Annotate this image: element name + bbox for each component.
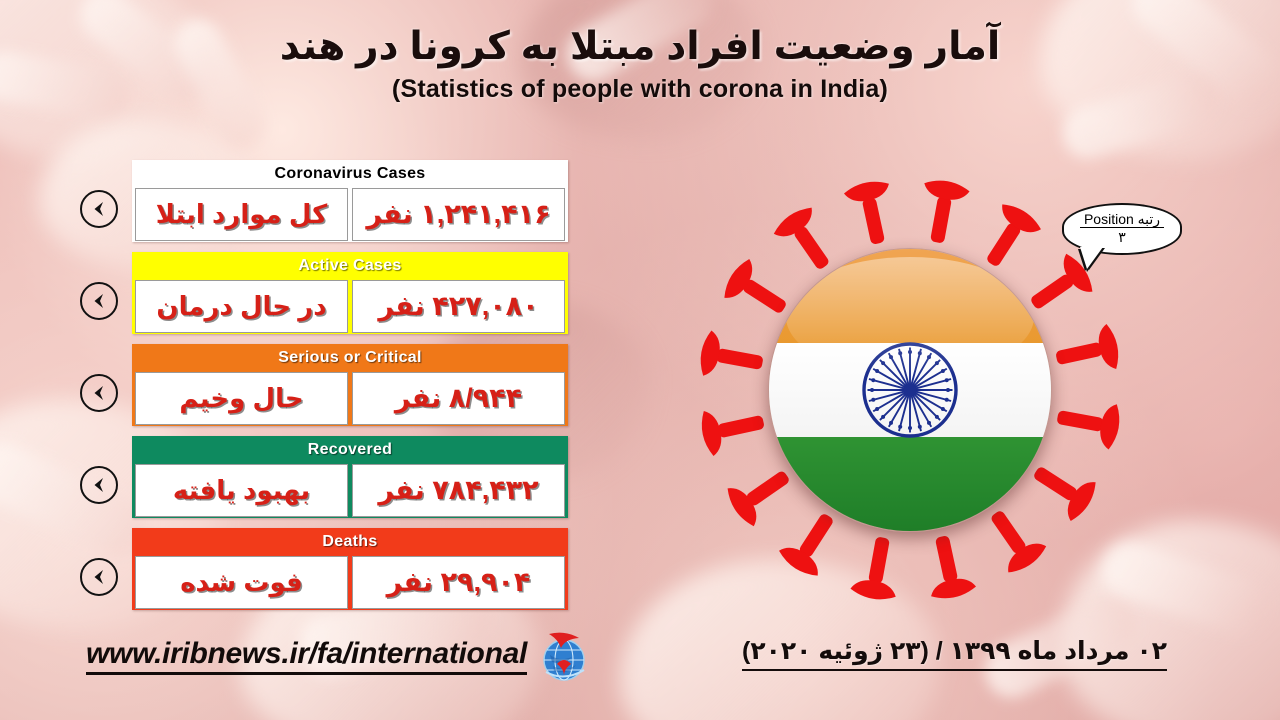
- stat-value-cell: ۸/۹۴۴ نفر: [352, 372, 565, 425]
- stat-card-header: Coronavirus Cases: [135, 163, 565, 185]
- stat-label: در حال درمان: [156, 291, 326, 322]
- ashoka-chakra-icon: [854, 334, 966, 446]
- stat-value: ۱,۲۴۱,۴۱۶ نفر: [366, 199, 550, 230]
- stat-card-header: Serious or Critical: [135, 347, 565, 369]
- header: آمار وضعیت افراد مبتلا به کرونا در هند (…: [0, 26, 1280, 104]
- left-arrow-circle-icon[interactable]: [80, 558, 118, 596]
- stat-label-cell: حال وخیم: [135, 372, 348, 425]
- stat-card: Active Casesدر حال درمان۴۲۷,۰۸۰ نفر: [132, 252, 568, 334]
- stat-card-header: Deaths: [135, 531, 565, 553]
- stats-list: Coronavirus Casesکل موارد ابتلا۱,۲۴۱,۴۱۶…: [132, 160, 568, 620]
- stat-card: Recoveredبهبود یافته۷۸۴,۴۳۲ نفر: [132, 436, 568, 518]
- bubble-tail: [1080, 247, 1103, 269]
- left-arrow-circle-icon[interactable]: [80, 466, 118, 504]
- position-rank: ۳: [1118, 229, 1126, 246]
- flag-band-green: [769, 437, 1051, 531]
- flag-band-saffron: [769, 249, 1051, 343]
- left-arrow-circle-icon[interactable]: [80, 282, 118, 320]
- stat-label: فوت شده: [180, 567, 303, 598]
- stat-card: Coronavirus Casesکل موارد ابتلا۱,۲۴۱,۴۱۶…: [132, 160, 568, 242]
- website-url[interactable]: www.iribnews.ir/fa/international: [86, 637, 527, 675]
- footer-url[interactable]: www.iribnews.ir/fa/international: [86, 628, 593, 684]
- stat-label-cell: بهبود یافته: [135, 464, 348, 517]
- stat-card-header: Active Cases: [135, 255, 565, 277]
- stat-value-cell: ۴۲۷,۰۸۰ نفر: [352, 280, 565, 333]
- stat-card-header: Recovered: [135, 439, 565, 461]
- left-arrow-circle-icon[interactable]: [80, 374, 118, 412]
- stat-label-cell: در حال درمان: [135, 280, 348, 333]
- stat-card: Deathsفوت شده۲۹,۹۰۴ نفر: [132, 528, 568, 610]
- india-flag-icon: [768, 248, 1052, 532]
- position-badge: رتبه Position ۳: [1062, 203, 1182, 269]
- publication-date: ۰۲ مرداد ماه ۱۳۹۹ / (۲۳ ژوئیه ۲۰۲۰): [742, 636, 1167, 671]
- stat-value: ۲۹,۹۰۴ نفر: [387, 567, 531, 598]
- position-label: رتبه Position: [1080, 212, 1164, 229]
- stat-value-cell: ۱,۲۴۱,۴۱۶ نفر: [352, 188, 565, 241]
- stat-label-cell: کل موارد ابتلا: [135, 188, 348, 241]
- stat-label-cell: فوت شده: [135, 556, 348, 609]
- stat-value: ۷۸۴,۴۳۲ نفر: [378, 475, 538, 506]
- irib-globe-logo: [537, 628, 593, 684]
- stat-value: ۴۲۷,۰۸۰ نفر: [378, 291, 538, 322]
- page-subtitle: (Statistics of people with corona in Ind…: [0, 75, 1280, 104]
- page-title: آمار وضعیت افراد مبتلا به کرونا در هند: [0, 26, 1280, 69]
- stat-card: Serious or Criticalحال وخیم۸/۹۴۴ نفر: [132, 344, 568, 426]
- stat-value: ۸/۹۴۴ نفر: [395, 383, 522, 414]
- stat-label: بهبود یافته: [173, 475, 310, 506]
- stat-value-cell: ۲۹,۹۰۴ نفر: [352, 556, 565, 609]
- stat-label: حال وخیم: [179, 383, 303, 414]
- left-arrow-circle-icon[interactable]: [80, 190, 118, 228]
- infographic-canvas: آمار وضعیت افراد مبتلا به کرونا در هند (…: [0, 0, 1280, 720]
- stat-value-cell: ۷۸۴,۴۳۲ نفر: [352, 464, 565, 517]
- stat-label: کل موارد ابتلا: [156, 199, 327, 230]
